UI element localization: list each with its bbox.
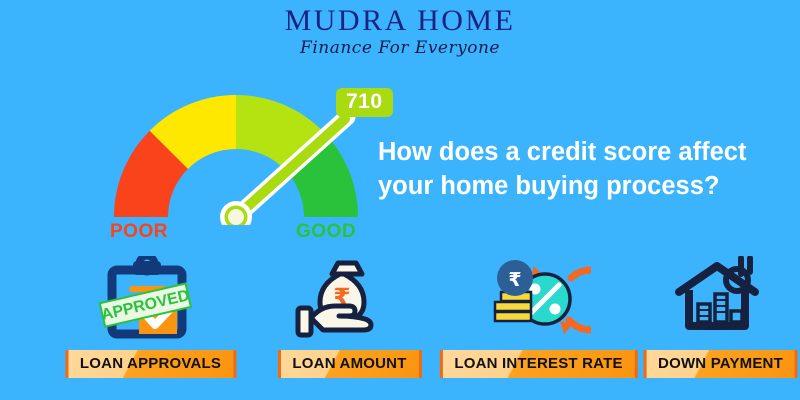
hand-money-bag-rupee-icon: ₹ [262,256,437,342]
headline-line-2: your home buying process? [378,170,790,204]
feature-label-loan-amount: LOAN AMOUNT [277,350,421,378]
gauge-label-good: GOOD [296,221,356,243]
credit-score-gauge [112,90,362,225]
brand-name: MUDRA HOME [0,6,800,36]
feature-down-payment[interactable]: DOWN PAYMENT [638,256,800,388]
feature-loan-approvals[interactable]: APPROVED LOAN APPROVALS [58,256,243,388]
brand-tagline: Finance For Everyone [0,40,800,57]
gauge-svg [112,90,362,225]
headline: How does a credit score affect your home… [378,136,790,203]
rupee-coins-percent-icon: ₹ [456,256,621,342]
feature-label-loan-approvals: LOAN APPROVALS [65,350,236,378]
feature-label-interest-rate: LOAN INTEREST RATE [439,350,637,378]
feature-interest-rate[interactable]: ₹ LOAN INTEREST RATE [456,256,621,388]
gauge-label-poor: POOR [110,221,168,243]
feature-loan-amount[interactable]: ₹ LOAN AMOUNT [262,256,437,388]
credit-score-banner: MUDRA HOME Finance For Everyone 710 PO [0,0,800,400]
credit-score-badge: 710 [336,88,393,117]
feature-label-down-payment: DOWN PAYMENT [643,350,798,378]
brand-logo: MUDRA HOME Finance For Everyone [0,2,800,57]
clipboard-approved-icon: APPROVED [58,256,243,342]
headline-line-1: How does a credit score affect [378,136,790,170]
rupee-symbol-coin: ₹ [508,269,521,291]
house-bar-chart-icon [638,256,800,342]
